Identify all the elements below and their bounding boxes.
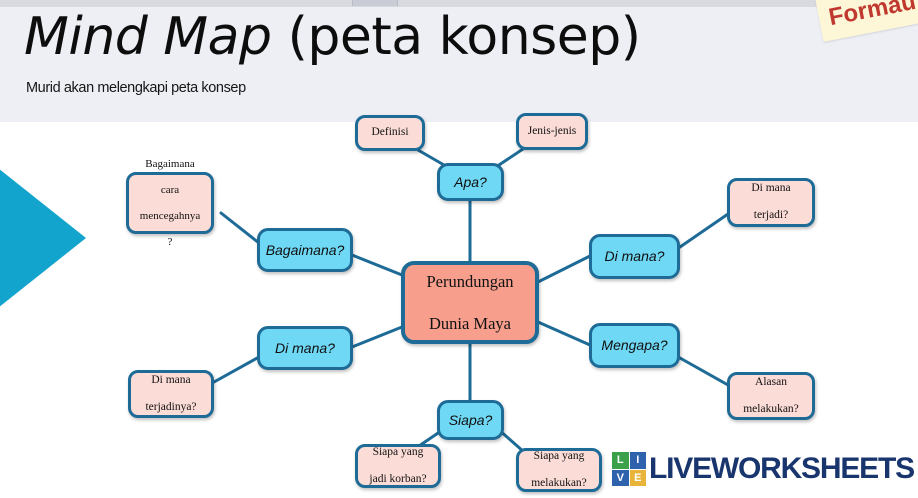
- branch-label-mengapa: Mengapa?: [601, 337, 667, 354]
- logo-cell-i: I: [630, 452, 647, 469]
- liveworksheets-wordmark: LIVEWORKSHEETS: [649, 452, 914, 486]
- leaf-node-siapa-yang-melakukan[interactable]: Siapa yang melakukan?: [516, 448, 602, 492]
- logo-cell-v: V: [612, 470, 629, 487]
- page-subtitle: Murid akan melengkapi peta konsep: [26, 80, 246, 96]
- leaf-node-dimana-terjadinya[interactable]: Di mana terjadinya?: [128, 370, 214, 418]
- branch-label-bagaimana: Bagaimana?: [266, 242, 345, 259]
- page-title-rest: (peta konsep): [272, 7, 641, 67]
- branch-node-siapa[interactable]: Siapa?: [437, 400, 504, 440]
- liveworksheets-logo[interactable]: L I V E LIVEWORKSHEETS: [612, 452, 914, 486]
- logo-cell-e: E: [630, 470, 647, 487]
- leaf-label-siapa-jadi-korban: Siapa yang jadi korban?: [369, 446, 426, 487]
- branch-label-apa: Apa?: [454, 174, 487, 191]
- logo-cell-l: L: [612, 452, 629, 469]
- branch-label-siapa: Siapa?: [449, 412, 493, 429]
- worksheet-canvas: Mind Map (peta konsep) Murid akan meleng…: [0, 0, 918, 498]
- page-title: Mind Map (peta konsep): [24, 6, 641, 68]
- center-line-1: Perundungan: [426, 271, 513, 292]
- leaf-node-bagaimana-cara[interactable]: Bagaimana cara mencegahnya ?: [126, 172, 214, 234]
- leaf-node-siapa-jadi-korban[interactable]: Siapa yang jadi korban?: [355, 444, 441, 488]
- mindmap-center-label: Perundungan Dunia Maya: [426, 271, 513, 334]
- leaf-label-definisi: Definisi: [371, 126, 408, 140]
- leaf-node-jenis-jenis[interactable]: Jenis-jenis: [516, 113, 588, 150]
- branch-node-bagaimana[interactable]: Bagaimana?: [257, 228, 353, 272]
- branch-label-dimana-kanan: Di mana?: [605, 248, 665, 265]
- branch-label-dimana-kiri: Di mana?: [275, 340, 335, 357]
- leaf-node-dimana-terjadi[interactable]: Di mana terjadi?: [727, 178, 815, 227]
- liveworksheets-grid-icon: L I V E: [612, 452, 646, 486]
- branch-node-mengapa[interactable]: Mengapa?: [589, 323, 680, 368]
- branch-node-dimana-kanan[interactable]: Di mana?: [589, 234, 680, 279]
- leaf-node-alasan-melakukan[interactable]: Alasan melakukan?: [727, 372, 815, 420]
- leaf-label-jenis-jenis: Jenis-jenis: [528, 125, 577, 139]
- branch-node-dimana-kiri[interactable]: Di mana?: [257, 326, 353, 370]
- leaf-label-bagaimana-cara: Bagaimana cara mencegahnya ?: [140, 158, 200, 249]
- leaf-node-definisi[interactable]: Definisi: [355, 115, 425, 151]
- mindmap-center-node[interactable]: Perundungan Dunia Maya: [401, 261, 539, 344]
- center-line-2: Dunia Maya: [426, 313, 513, 334]
- branch-node-apa[interactable]: Apa?: [437, 163, 504, 201]
- leaf-label-siapa-yang-melakukan: Siapa yang melakukan?: [531, 450, 587, 491]
- leaf-label-alasan-melakukan: Alasan melakukan?: [743, 376, 799, 417]
- page-title-emphasis: Mind Map: [24, 7, 272, 67]
- leaf-label-dimana-terjadi: Di mana terjadi?: [751, 182, 790, 223]
- leaf-label-dimana-terjadinya: Di mana terjadinya?: [145, 374, 196, 415]
- decorative-triangle: [0, 168, 86, 308]
